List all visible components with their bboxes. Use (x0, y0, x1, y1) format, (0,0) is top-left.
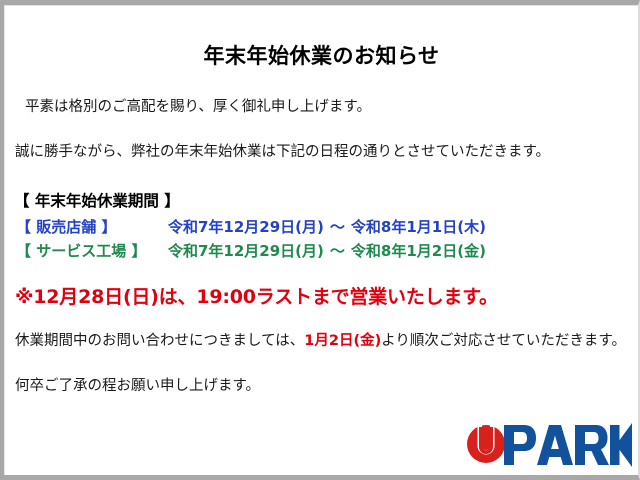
statement-paragraph: 誠に勝手ながら、弊社の年末年始休業は下記の日程の通りとさせていただきます。 (15, 143, 550, 163)
schedule-start-service-factory: 令和7年12月29日(月) (168, 240, 324, 261)
schedule-end-service-factory: 令和8年1月2日(金) (351, 240, 486, 261)
schedule-row-service-factory: 【 サービス工場 】令和7年12月29日(月)～令和8年1月2日(金) (16, 240, 486, 261)
schedule-label-service-factory: 【 サービス工場 】 (16, 240, 168, 261)
page-title: 年末年始休業のお知らせ (5, 40, 638, 70)
greeting-paragraph: 平素は格別のご高配を賜り、厚く御礼申し上げます。 (25, 98, 371, 118)
upark-letter-a (537, 425, 573, 465)
inquiry-text-after: より順次ご対応させていただきます。 (381, 333, 626, 349)
inquiry-paragraph: 休業期間中のお問い合わせにつきましては、1月2日(金)より順次ご対応させていただ… (15, 332, 626, 352)
schedule-row-sales-shop: 【 販売店舗 】令和7年12月29日(月)～令和8年1月1日(木) (16, 216, 486, 237)
notice-page: 年末年始休業のお知らせ 平素は格別のご高配を賜り、厚く御礼申し上げます。 誠に勝… (4, 5, 638, 475)
schedule-start-sales-shop: 令和7年12月29日(月) (168, 216, 324, 237)
period-heading: 【 年末年始休業期間 】 (14, 189, 180, 211)
schedule-end-sales-shop: 令和8年1月1日(木) (351, 216, 486, 237)
inquiry-text-before: 休業期間中のお問い合わせにつきましては、 (15, 333, 304, 349)
schedule-label-sales-shop: 【 販売店舗 】 (16, 216, 168, 237)
upark-letter-k (610, 423, 632, 467)
closing-paragraph: 何卒ご了承の程お願い申し上げます。 (15, 377, 260, 397)
upark-letter-p (504, 425, 536, 465)
upark-u-mark-icon (467, 425, 505, 463)
schedule-tilde-sales-shop: ～ (324, 218, 351, 236)
schedule-tilde-service-factory: ～ (324, 242, 351, 260)
inquiry-highlight-date: 1月2日(金) (304, 333, 381, 349)
alert-notice-line: ※12月28日(日)は、19:00ラストまで営業いたします。 (15, 282, 498, 309)
upark-logo (466, 419, 632, 473)
upark-letter-r (575, 425, 609, 465)
notice-frame: 年末年始休業のお知らせ 平素は格別のご高配を賜り、厚く御礼申し上げます。 誠に勝… (0, 0, 640, 480)
